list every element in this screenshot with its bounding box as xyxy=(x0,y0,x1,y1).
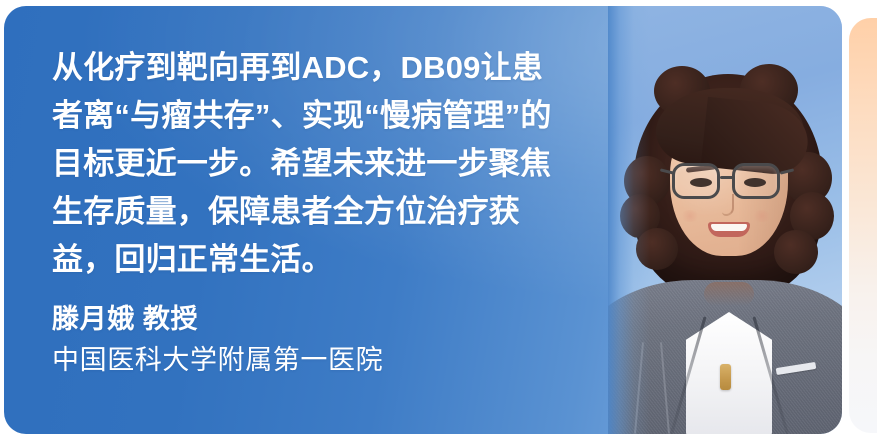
gold-tassel-ornament xyxy=(720,364,731,390)
eyeglasses-bridge xyxy=(720,176,734,179)
eyeglasses-lens-left xyxy=(672,163,720,199)
cheek-right xyxy=(752,210,772,222)
peach-accent-card xyxy=(849,18,877,433)
cheek-left xyxy=(680,210,700,222)
hair-curl xyxy=(774,230,818,274)
speaker-name: 滕月娥 教授 xyxy=(52,300,652,338)
teeth xyxy=(711,224,747,231)
speaker-attribution: 滕月娥 教授 中国医科大学附属第一医院 xyxy=(52,300,652,382)
eyeglasses-lens-right xyxy=(732,163,780,199)
quote-text-block: 从化疗到靶向再到ADC，DB09让患 者离“与瘤共存”、实现“慢病管理”的 目标… xyxy=(52,44,652,284)
mouth xyxy=(708,222,750,237)
quote-card-stage: 从化疗到靶向再到ADC，DB09让患 者离“与瘤共存”、实现“慢病管理”的 目标… xyxy=(0,0,877,441)
speaker-affiliation: 中国医科大学附属第一医院 xyxy=(52,338,652,382)
quote-text: 从化疗到靶向再到ADC，DB09让患 者离“与瘤共存”、实现“慢病管理”的 目标… xyxy=(52,44,652,284)
nose xyxy=(722,194,734,216)
neck-shadow xyxy=(704,282,754,306)
